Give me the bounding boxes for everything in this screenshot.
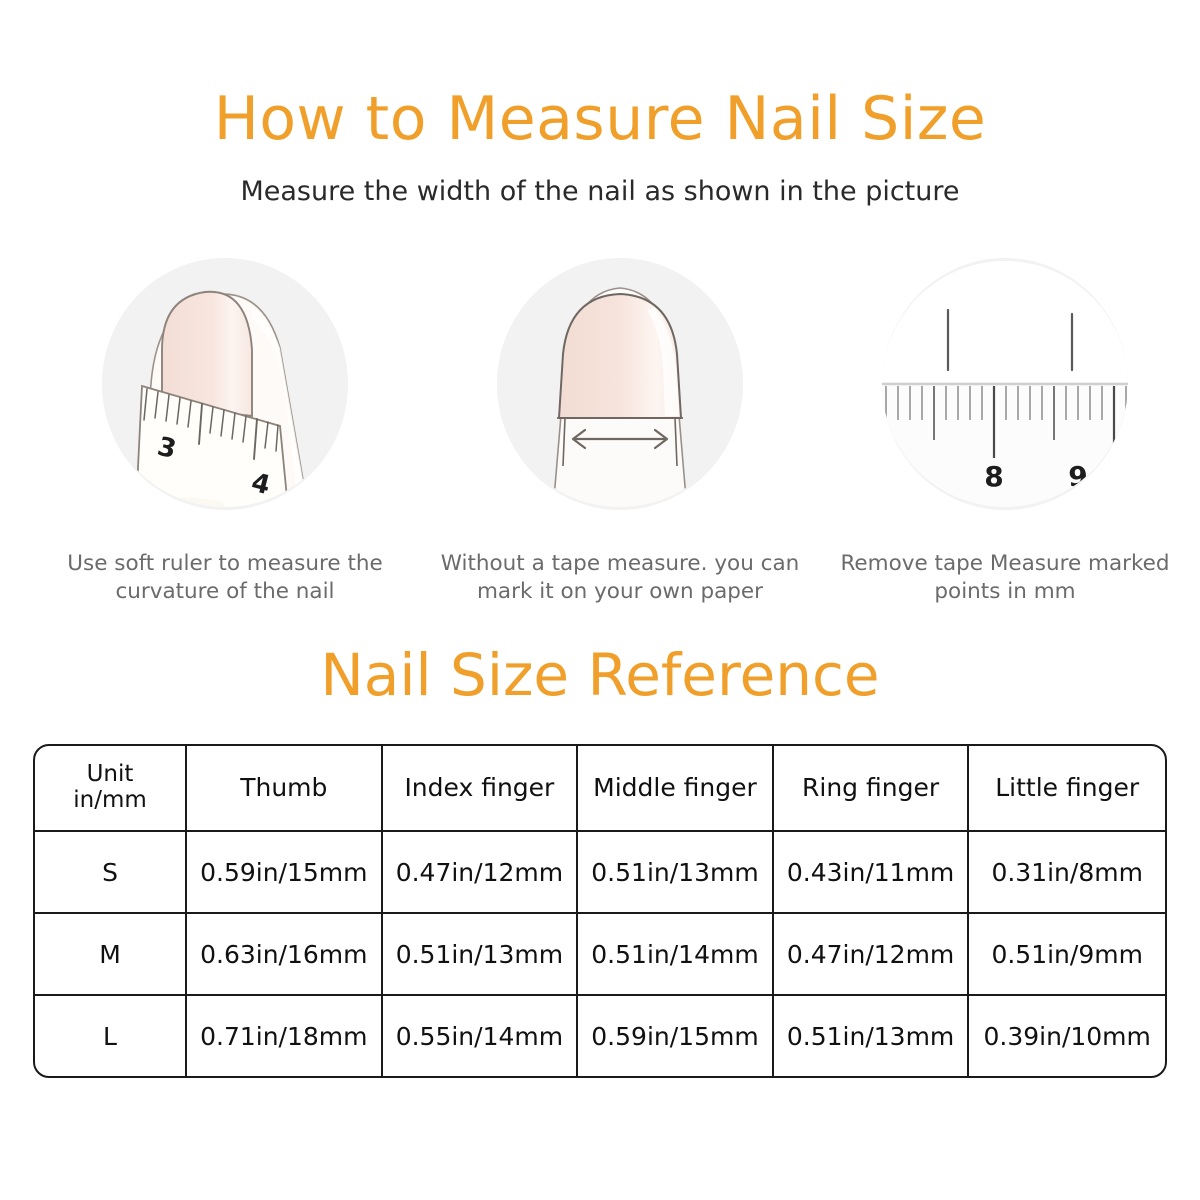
ruler-tick-label-8: 8 bbox=[984, 460, 1003, 493]
step-caption: Remove tape Measure marked points in mm bbox=[815, 550, 1195, 607]
cell-m-middle-finger: 0.51in/14mm bbox=[578, 914, 774, 996]
measurement-steps: 3 4 Use soft ruler to measure the curvat… bbox=[0, 258, 1200, 608]
cell-l-little-finger: 0.39in/10mm bbox=[969, 996, 1165, 1076]
row-size-label-l: L bbox=[35, 996, 187, 1076]
table-row: L 0.71in/18mm 0.55in/14mm 0.59in/15mm 0.… bbox=[35, 996, 1165, 1076]
cell-s-middle-finger: 0.51in/13mm bbox=[578, 832, 774, 914]
table-row: S 0.59in/15mm 0.47in/12mm 0.51in/13mm 0.… bbox=[35, 832, 1165, 914]
step-caption: Without a tape measure. you can mark it … bbox=[430, 550, 810, 607]
step-caption: Use soft ruler to measure the curvature … bbox=[35, 550, 415, 607]
row-size-label-m: M bbox=[35, 914, 187, 996]
nail-width-arrow-icon bbox=[497, 258, 743, 510]
cell-l-middle-finger: 0.59in/15mm bbox=[578, 996, 774, 1076]
cell-m-index-finger: 0.51in/13mm bbox=[383, 914, 579, 996]
illustration-circle-3: 8 9 bbox=[882, 258, 1128, 510]
table-header-thumb: Thumb bbox=[187, 746, 383, 832]
row-size-label-s: S bbox=[35, 832, 187, 914]
ruler-with-marked-points-icon: 8 9 bbox=[882, 258, 1128, 510]
step-soft-ruler: 3 4 Use soft ruler to measure the curvat… bbox=[35, 258, 415, 608]
table-header-row: Unit in/mm Thumb Index finger Middle fin… bbox=[35, 746, 1165, 832]
ruler-tick-label-9: 9 bbox=[1068, 460, 1087, 493]
table-header-little-finger: Little finger bbox=[969, 746, 1165, 832]
page-title: How to Measure Nail Size bbox=[0, 88, 1200, 151]
unit-header-line1: Unit bbox=[35, 762, 185, 788]
step-measure-marks: 8 9 Remove tape Measure marked points in… bbox=[815, 258, 1195, 608]
cell-l-index-finger: 0.55in/14mm bbox=[383, 996, 579, 1076]
table-header-index-finger: Index finger bbox=[383, 746, 579, 832]
nail-size-reference-table-wrap: Unit in/mm Thumb Index finger Middle fin… bbox=[33, 744, 1167, 1078]
cell-m-ring-finger: 0.47in/12mm bbox=[774, 914, 970, 996]
cell-l-ring-finger: 0.51in/13mm bbox=[774, 996, 970, 1076]
page-subtitle: Measure the width of the nail as shown i… bbox=[0, 176, 1200, 207]
cell-s-ring-finger: 0.43in/11mm bbox=[774, 832, 970, 914]
cell-s-little-finger: 0.31in/8mm bbox=[969, 832, 1165, 914]
cell-m-little-finger: 0.51in/9mm bbox=[969, 914, 1165, 996]
finger-with-tape-measure-icon: 3 4 bbox=[102, 258, 348, 510]
reference-title: Nail Size Reference bbox=[0, 645, 1200, 706]
cell-s-thumb: 0.59in/15mm bbox=[187, 832, 383, 914]
nail-size-reference-table: Unit in/mm Thumb Index finger Middle fin… bbox=[33, 744, 1167, 1078]
unit-header-line2: in/mm bbox=[35, 788, 185, 814]
table-row: M 0.63in/16mm 0.51in/13mm 0.51in/14mm 0.… bbox=[35, 914, 1165, 996]
illustration-circle-2 bbox=[497, 258, 743, 510]
step-illustration-wrap: 8 9 bbox=[815, 258, 1195, 510]
illustration-circle-1: 3 4 bbox=[102, 258, 348, 510]
step-illustration-wrap: 3 4 bbox=[35, 258, 415, 510]
cell-m-thumb: 0.63in/16mm bbox=[187, 914, 383, 996]
table-header-unit: Unit in/mm bbox=[35, 746, 187, 832]
step-illustration-wrap bbox=[430, 258, 810, 510]
table-header-middle-finger: Middle finger bbox=[578, 746, 774, 832]
step-mark-on-paper: Without a tape measure. you can mark it … bbox=[430, 258, 810, 608]
table-header-ring-finger: Ring finger bbox=[774, 746, 970, 832]
cell-l-thumb: 0.71in/18mm bbox=[187, 996, 383, 1076]
cell-s-index-finger: 0.47in/12mm bbox=[383, 832, 579, 914]
